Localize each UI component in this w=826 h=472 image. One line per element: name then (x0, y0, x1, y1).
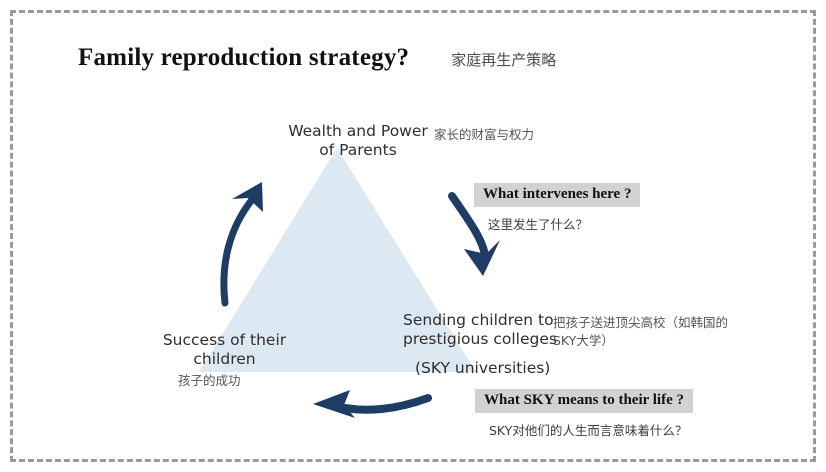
vertex-wealth-and-power: Wealth and Power of Parents (288, 122, 428, 160)
arrow-up-left-icon (224, 196, 255, 303)
vertex-success-label-chinese: 孩子的成功 (178, 372, 241, 389)
vertex-success-of-children: Success of their children (157, 331, 292, 369)
slide-canvas: Family reproduction strategy? 家庭再生产策略 We… (0, 0, 826, 472)
arrow-left-bottom-head (313, 390, 355, 418)
vertex-wealth-label-chinese: 家长的财富与权力 (434, 126, 534, 143)
vertex-sending-label-line3: (SKY universities) (415, 359, 553, 378)
callout-question-chinese: SKY对他们的人生而言意味着什么？ (489, 420, 693, 439)
vertex-sending-label-line1: Sending children to (403, 311, 553, 330)
vertex-success-label-line1: Success of their (157, 331, 292, 350)
vertex-wealth-label-line2: of Parents (288, 141, 428, 160)
vertex-sending-label-chinese: 把孩子送进顶尖高校（如韩国的SKY大学） (553, 314, 735, 350)
arrow-left-bottom-icon (345, 398, 428, 410)
vertex-sending-label-line2: prestigious colleges (403, 330, 553, 349)
callout-what-intervenes-here: What intervenes here ? 这里发生了什么？ (474, 183, 640, 233)
callout-question-highlight: What intervenes here ? (474, 183, 640, 207)
callout-question-chinese: 这里发生了什么？ (488, 214, 640, 233)
vertex-sending-children: Sending children to prestigious colleges… (403, 311, 553, 378)
callout-what-sky-means: What SKY means to their life ? SKY对他们的人生… (475, 389, 693, 439)
vertex-wealth-label-line1: Wealth and Power (288, 122, 428, 141)
callout-question-highlight: What SKY means to their life ? (475, 389, 693, 413)
vertex-success-label-line2: children (157, 350, 292, 369)
cycle-diagram (0, 0, 826, 472)
